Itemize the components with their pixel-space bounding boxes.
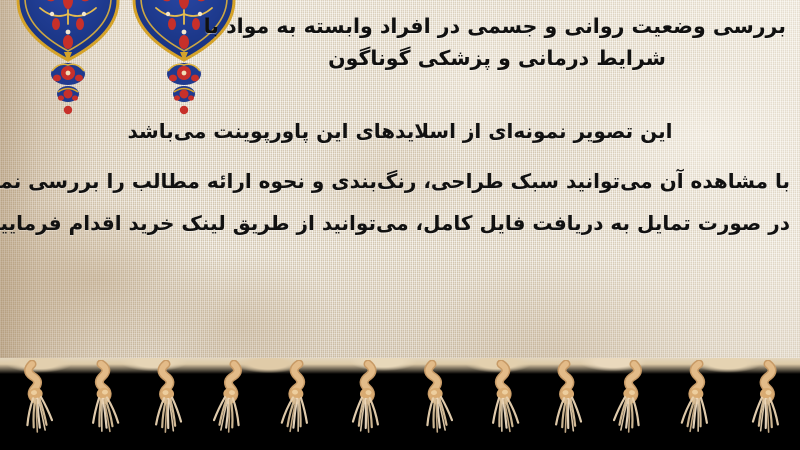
carpet-fringe-band <box>0 358 800 450</box>
slide-title: بررسی وضعیت روانی و جسمی در افراد وابسته… <box>208 10 786 74</box>
fringe-tassel <box>141 360 193 444</box>
fringe-tassel <box>207 360 259 444</box>
fringe-tassel <box>74 360 126 444</box>
fringe-tassel <box>541 360 593 444</box>
fringe-tassel <box>607 360 659 444</box>
body-line-1: این تصویر نمونه‌ای از اسلایدهای این پاور… <box>10 110 790 152</box>
body-line-3: در صورت تمایل به دریافت فایل کامل، می‌تو… <box>10 202 790 244</box>
fringe-tassel <box>674 360 726 444</box>
title-line-2: شرایط درمانی و پزشکی گوناگون <box>208 42 786 74</box>
title-line-1: بررسی وضعیت روانی و جسمی در افراد وابسته… <box>208 10 786 42</box>
fringe-tassel <box>741 360 793 444</box>
fringe-tassel <box>407 360 459 444</box>
slide-canvas: بررسی وضعیت روانی و جسمی در افراد وابسته… <box>0 0 800 450</box>
body-line-2: با مشاهده آن می‌توانید سبک طراحی، رنگ‌بن… <box>10 160 790 202</box>
fringe-tassel <box>474 360 526 444</box>
slide-body: این تصویر نمونه‌ای از اسلایدهای این پاور… <box>10 110 790 244</box>
fringe-tassel <box>7 360 59 444</box>
fringe-tassel <box>341 360 393 444</box>
fringe-tassel <box>274 360 326 444</box>
